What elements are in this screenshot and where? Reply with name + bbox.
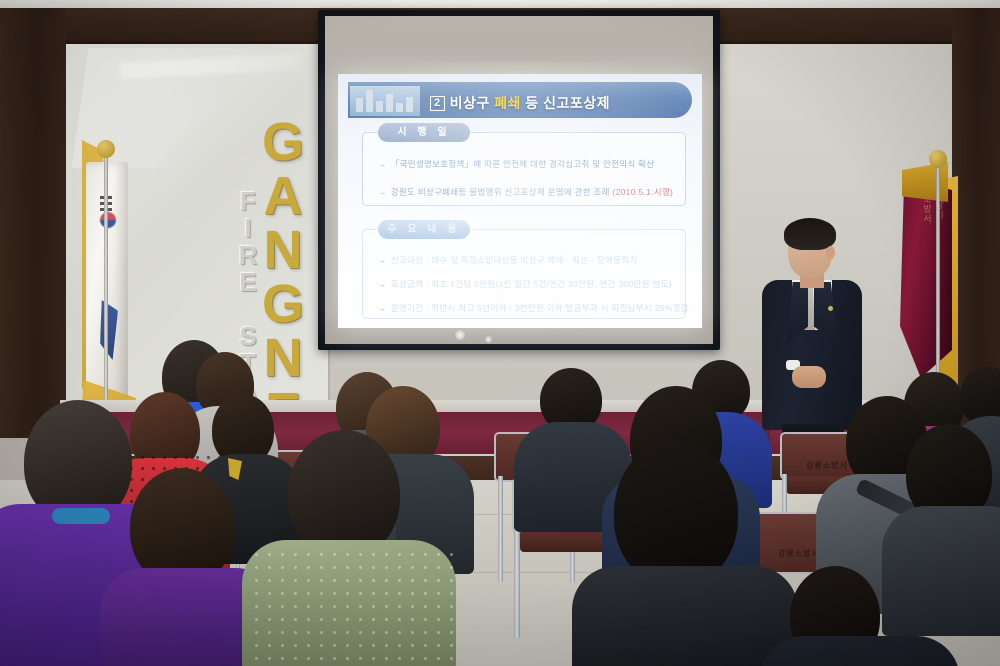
projector-hotspot bbox=[455, 330, 465, 340]
torso bbox=[572, 566, 798, 666]
bullet-text: 신고대상 : 대수 및 특정소방대상물 비상구 폐쇄 · 훼손 · 장애물적치 bbox=[391, 255, 638, 265]
bullet-arrow-icon: → bbox=[378, 279, 387, 289]
bullet-arrow-icon: → bbox=[378, 303, 387, 313]
slide-title-pre: 비상구 bbox=[450, 95, 495, 111]
bullet-text: 강원도 비상구폐쇄등 불법행위 신고포상제 운영에 관한 조례 bbox=[391, 187, 613, 197]
bullet-arrow-icon: → bbox=[378, 187, 387, 197]
chair-imprint-text: 강릉소방서 bbox=[806, 460, 848, 471]
presenter-clasped-hands bbox=[792, 366, 826, 388]
presenter-ear bbox=[826, 246, 835, 259]
presenter-hair bbox=[784, 218, 836, 250]
flagpole-finial-right bbox=[929, 150, 947, 168]
slide-number-badge: 2 bbox=[430, 96, 445, 111]
bullet-arrow-icon: → bbox=[378, 159, 387, 169]
collar-teal-accent bbox=[52, 508, 110, 524]
head bbox=[288, 430, 400, 558]
torso bbox=[760, 636, 960, 666]
bullet-red-note: (2010.5.1.시행) bbox=[612, 187, 673, 197]
green-dot-pattern bbox=[250, 548, 462, 666]
bullet-text: 운영기간 : 위반시 최고 5년이하 / 3천만원 이하 벌금부과 시 자진납부… bbox=[391, 303, 689, 313]
slide-section-1-label: 시 행 일 bbox=[378, 123, 470, 142]
slide-bullet-1-1: →「국민생명보호정책」에 따른 안전에 대한 경각심고취 및 안전의식 확산 bbox=[378, 158, 654, 170]
presenter-lapel-pin bbox=[828, 306, 833, 311]
chair-imprint-text: 강릉소방서 bbox=[778, 548, 820, 559]
bullet-text: 「국민생명보호정책」에 따른 안전에 대한 경각심고취 및 안전의식 확산 bbox=[391, 159, 655, 169]
slide-bullet-2-2: →포상금액 : 최초 1건당 5만원(1인 월간 5건/연간 30만원, 연간 … bbox=[378, 278, 672, 290]
slide-title: 2비상구 폐쇄 등 신고포상제 bbox=[430, 93, 610, 113]
slide-section-2-label: 주 요 내 용 bbox=[378, 220, 470, 239]
head bbox=[614, 440, 738, 586]
city-skyline-graphic bbox=[350, 86, 420, 116]
presentation-room-photo: FIRE STATION GANGNEUNG 의장기 소방서 bbox=[0, 0, 1000, 666]
slide-title-post: 등 신고포상제 bbox=[521, 95, 610, 111]
slide-bullet-2-3: →운영기간 : 위반시 최고 5년이하 / 3천만원 이하 벌금부과 시 자진납… bbox=[378, 302, 689, 314]
slide-title-highlight: 폐쇄 bbox=[494, 95, 521, 111]
projected-slide: 2비상구 폐쇄 등 신고포상제 시 행 일 →「국민생명보호정책」에 따른 안전… bbox=[338, 74, 702, 328]
slide-bullet-1-2: →강원도 비상구폐쇄등 불법행위 신고포상제 운영에 관한 조례 (2010.5… bbox=[378, 186, 673, 198]
bullet-text: 포상금액 : 최초 1건당 5만원(1인 월간 5건/연간 30만원, 연간 3… bbox=[391, 279, 672, 289]
slide-header-band: 2비상구 폐쇄 등 신고포상제 bbox=[348, 82, 692, 118]
flagpole-finial-left bbox=[97, 140, 115, 158]
projector-hotspot bbox=[485, 336, 492, 343]
torso bbox=[882, 506, 1000, 636]
bullet-arrow-icon: → bbox=[378, 255, 387, 265]
slide-bullet-2-1: →신고대상 : 대수 및 특정소방대상물 비상구 폐쇄 · 훼손 · 장애물적치 bbox=[378, 254, 637, 266]
trigram-group bbox=[100, 196, 116, 222]
wood-pillar-left bbox=[0, 8, 66, 438]
